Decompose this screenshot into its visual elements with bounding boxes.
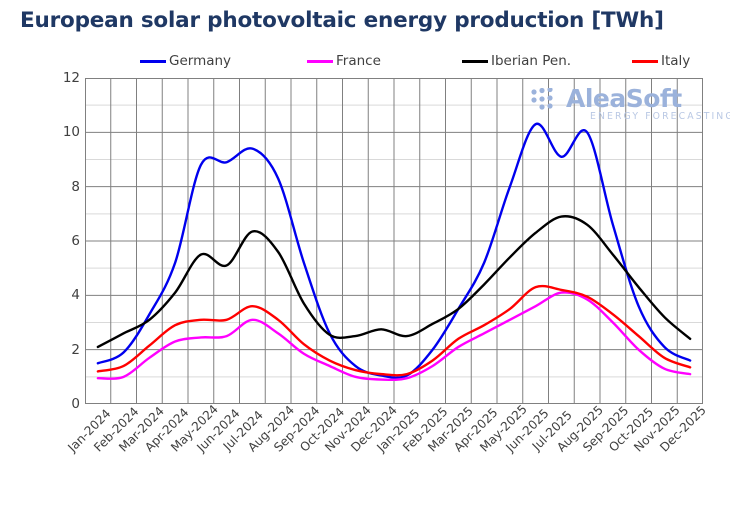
y-axis-tick-label: 10 [40, 124, 80, 140]
legend-item-iberian-pen[interactable]: Iberian Pen. [462, 53, 571, 69]
legend-color-swatch [307, 60, 333, 63]
legend-color-swatch [140, 60, 166, 63]
legend-label: Italy [661, 53, 690, 69]
legend-color-swatch [632, 60, 658, 63]
legend-color-swatch [462, 60, 488, 63]
y-axis-labels: 024681012 [36, 78, 80, 404]
legend-item-france[interactable]: France [307, 53, 381, 69]
y-axis-tick-label: 6 [40, 233, 80, 249]
legend-label: France [336, 53, 381, 69]
chart-legend: GermanyFranceIberian Pen.Italy [140, 51, 700, 71]
y-axis-tick-label: 12 [40, 70, 80, 86]
plot-area [85, 78, 703, 404]
legend-label: Germany [169, 53, 231, 69]
legend-item-italy[interactable]: Italy [632, 53, 690, 69]
chart-container: European solar photovoltaic energy produ… [0, 0, 730, 506]
chart-svg [85, 78, 703, 404]
page-title: European solar photovoltaic energy produ… [20, 8, 664, 33]
y-axis-tick-label: 8 [40, 179, 80, 195]
y-axis-tick-label: 4 [40, 287, 80, 303]
legend-label: Iberian Pen. [491, 53, 571, 69]
x-axis-labels: Jan-2024Feb-2024Mar-2024Apr-2024May-2024… [85, 404, 703, 504]
legend-item-germany[interactable]: Germany [140, 53, 231, 69]
y-axis-tick-label: 0 [40, 396, 80, 412]
y-axis-tick-label: 2 [40, 342, 80, 358]
